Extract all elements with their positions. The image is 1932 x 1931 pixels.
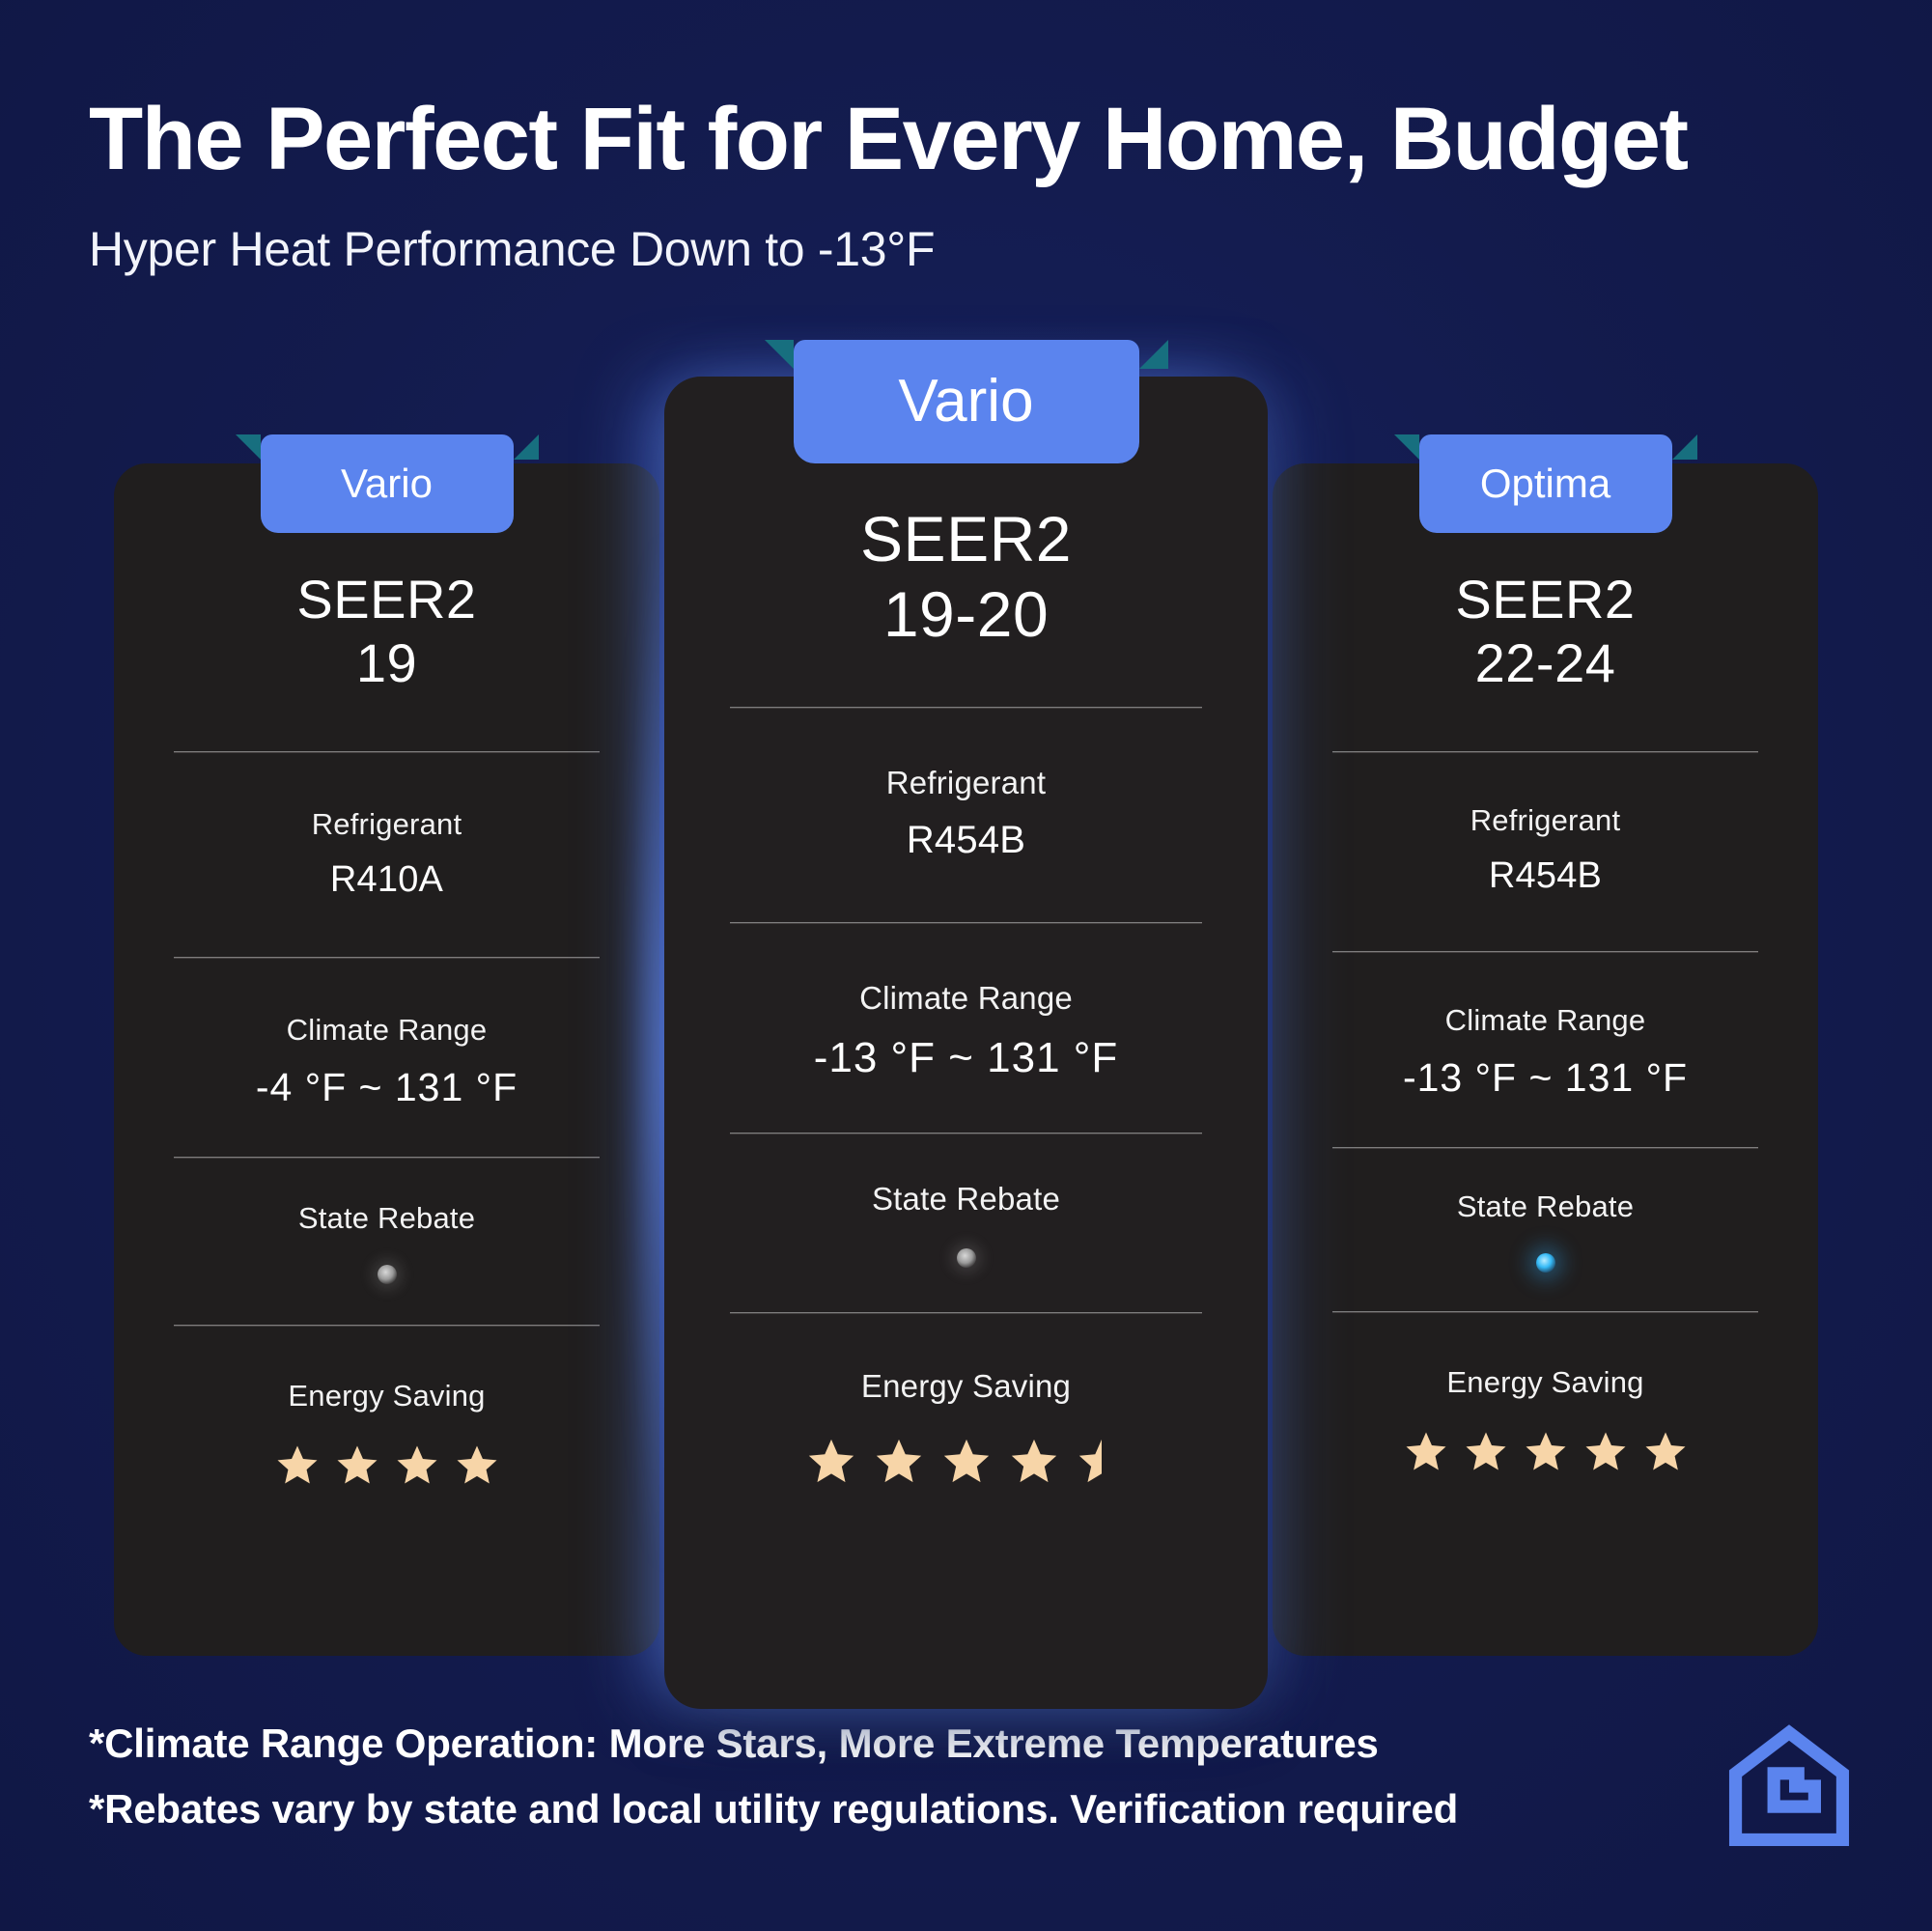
spec-label: State Rebate — [730, 1181, 1202, 1217]
divider — [174, 751, 600, 753]
divider — [730, 707, 1202, 709]
spec-row-energy-saving: Energy Saving — [174, 1379, 600, 1487]
spec-label: Energy Saving — [730, 1368, 1202, 1405]
seer-label: SEER2 — [174, 568, 600, 631]
seer-value: 19-20 — [730, 577, 1202, 653]
spec-label: Energy Saving — [1332, 1365, 1758, 1400]
card-body: SEER2 19 Refrigerant R410A Climate Range… — [114, 463, 659, 1487]
spec-row-energy-saving: Energy Saving — [1332, 1365, 1758, 1473]
spec-row-climate-range: Climate Range -13 °F ~ 131 °F — [1332, 1003, 1758, 1101]
spec-value: R410A — [174, 859, 600, 901]
divider — [1332, 751, 1758, 753]
energy-rating-stars — [730, 1436, 1202, 1486]
ribbon-fold-left-icon — [1394, 434, 1419, 460]
product-card-optima-22-24[interactable]: Optima SEER2 22-24 Refrigerant R454B Cli… — [1273, 463, 1818, 1656]
spec-value: -13 °F ~ 131 °F — [730, 1034, 1202, 1082]
rebate-status-dot — [957, 1248, 976, 1268]
divider — [1332, 1147, 1758, 1149]
energy-rating-stars — [174, 1442, 600, 1487]
divider — [174, 1325, 600, 1327]
product-badge-label: Vario — [898, 368, 1033, 434]
spec-value: -13 °F ~ 131 °F — [1332, 1055, 1758, 1101]
spec-row-refrigerant: Refrigerant R410A — [174, 807, 600, 901]
rebate-status-dot — [378, 1265, 397, 1284]
seer-label: SEER2 — [730, 502, 1202, 577]
product-badge: Optima — [1419, 434, 1672, 533]
card-badge-wrap: Vario — [794, 340, 1139, 463]
footer-disclaimers: *Climate Range Operation: More Stars, Mo… — [89, 1711, 1672, 1842]
divider — [1332, 951, 1758, 953]
energy-rating-stars — [1332, 1429, 1758, 1473]
divider — [730, 1133, 1202, 1134]
divider — [730, 922, 1202, 924]
product-badge: Vario — [261, 434, 514, 533]
ribbon-fold-left-icon — [236, 434, 261, 460]
spec-label: Refrigerant — [174, 807, 600, 842]
ribbon-fold-left-icon — [765, 340, 794, 369]
seer-label: SEER2 — [1332, 568, 1758, 631]
card-body: SEER2 22-24 Refrigerant R454B Climate Ra… — [1273, 463, 1818, 1473]
spec-label: Climate Range — [1332, 1003, 1758, 1038]
divider — [1332, 1311, 1758, 1313]
spec-label: State Rebate — [174, 1201, 600, 1236]
header: The Perfect Fit for Every Home, Budget H… — [89, 93, 1846, 277]
product-card-vario-19[interactable]: Vario SEER2 19 Refrigerant R410A Climate… — [114, 463, 659, 1656]
comparison-cards: Vario SEER2 19 Refrigerant R410A Climate… — [0, 377, 1932, 1719]
card-badge-wrap: Vario — [261, 434, 514, 533]
spec-row-refrigerant: Refrigerant R454B — [730, 765, 1202, 862]
spec-label: Energy Saving — [174, 1379, 600, 1413]
ribbon-fold-right-icon — [514, 434, 539, 460]
page-title: The Perfect Fit for Every Home, Budget — [89, 93, 1846, 186]
divider — [730, 1312, 1202, 1314]
spec-row-climate-range: Climate Range -4 °F ~ 131 °F — [174, 1013, 600, 1110]
product-card-vario-19-20[interactable]: Vario SEER2 19-20 Refrigerant R454B Clim… — [664, 377, 1268, 1709]
spec-label: Climate Range — [174, 1013, 600, 1048]
divider — [174, 1157, 600, 1159]
spec-row-state-rebate: State Rebate — [174, 1201, 600, 1284]
spec-row-climate-range: Climate Range -13 °F ~ 131 °F — [730, 980, 1202, 1082]
card-badge-wrap: Optima — [1419, 434, 1672, 533]
spec-label: Climate Range — [730, 980, 1202, 1017]
divider — [174, 957, 600, 959]
product-badge-label: Optima — [1480, 461, 1610, 506]
footer-line-rebates: *Rebates vary by state and local utility… — [89, 1777, 1672, 1842]
card-body: SEER2 19-20 Refrigerant R454B Climate Ra… — [664, 377, 1268, 1486]
poster-canvas: The Perfect Fit for Every Home, Budget H… — [0, 0, 1932, 1931]
spec-value: -4 °F ~ 131 °F — [174, 1065, 600, 1110]
spec-row-energy-saving: Energy Saving — [730, 1368, 1202, 1486]
spec-row-state-rebate: State Rebate — [730, 1181, 1202, 1268]
product-badge: Vario — [794, 340, 1139, 463]
spec-label: State Rebate — [1332, 1189, 1758, 1224]
spec-label: Refrigerant — [1332, 803, 1758, 838]
page-subtitle: Hyper Heat Performance Down to -13°F — [89, 221, 1846, 277]
footer-line-climate: *Climate Range Operation: More Stars, Mo… — [89, 1711, 1672, 1777]
ribbon-fold-right-icon — [1139, 340, 1168, 369]
spec-row-refrigerant: Refrigerant R454B — [1332, 803, 1758, 897]
product-badge-label: Vario — [341, 461, 433, 506]
spec-row-state-rebate: State Rebate — [1332, 1189, 1758, 1273]
spec-value: R454B — [1332, 855, 1758, 897]
ribbon-fold-right-icon — [1672, 434, 1697, 460]
spec-value: R454B — [730, 819, 1202, 862]
spec-label: Refrigerant — [730, 765, 1202, 801]
seer-value: 22-24 — [1332, 631, 1758, 695]
rebate-status-dot — [1536, 1253, 1555, 1273]
house-spiral-logo — [1725, 1722, 1853, 1850]
seer-value: 19 — [174, 631, 600, 695]
